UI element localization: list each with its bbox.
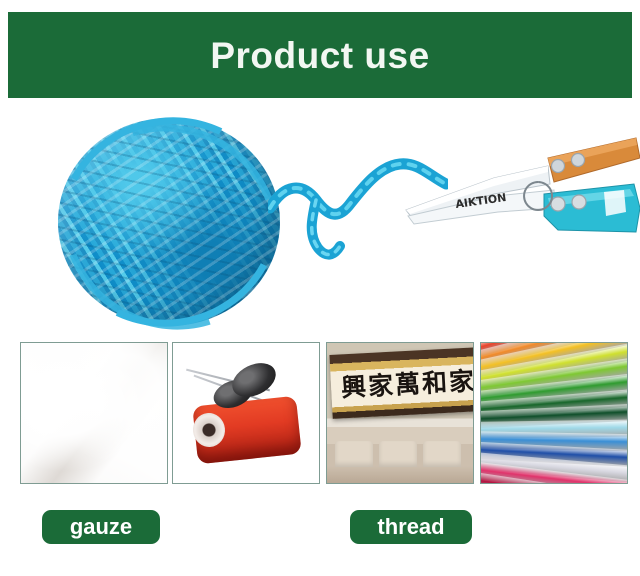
thumbnail-card-embroidered[interactable]: 興家萬和家 embroidered xyxy=(326,342,474,484)
embroidery-floss-image xyxy=(481,343,627,483)
thread-spool-image xyxy=(173,343,319,483)
page-title: Product use xyxy=(210,37,429,74)
thumbnail-image-gauze xyxy=(20,342,168,484)
calligraphy-text: 興家萬和家 xyxy=(340,363,474,406)
thumbnail-card-thread[interactable]: thread xyxy=(172,342,320,484)
header-banner: Product use xyxy=(8,12,632,98)
thumbnail-card-diy[interactable]: DIY xyxy=(480,342,628,484)
thumbnail-row: gauze thread xyxy=(0,342,640,576)
thumbnail-image-diy xyxy=(480,342,628,484)
scissors-icon: AIKTION xyxy=(398,132,640,262)
hero-image: AIKTION xyxy=(0,102,640,334)
thumbnail-image-thread xyxy=(172,342,320,484)
gauze-fabric-image xyxy=(21,343,167,483)
thumbnail-label-gauze: gauze xyxy=(42,510,160,544)
sofa-shape xyxy=(327,427,473,483)
thumbnail-image-embroidered: 興家萬和家 xyxy=(326,342,474,484)
embroidery-room-image: 興家萬和家 xyxy=(327,343,473,483)
picture-frame: 興家萬和家 xyxy=(329,347,474,419)
thumbnail-label-thread: thread xyxy=(350,510,472,544)
thumbnail-card-gauze[interactable]: gauze xyxy=(20,342,168,484)
cushion-shape xyxy=(379,441,417,467)
cushion-shape xyxy=(423,441,461,467)
product-use-banner-page: Product use AIKTION xyxy=(0,0,640,576)
cushion-shape xyxy=(335,441,373,467)
